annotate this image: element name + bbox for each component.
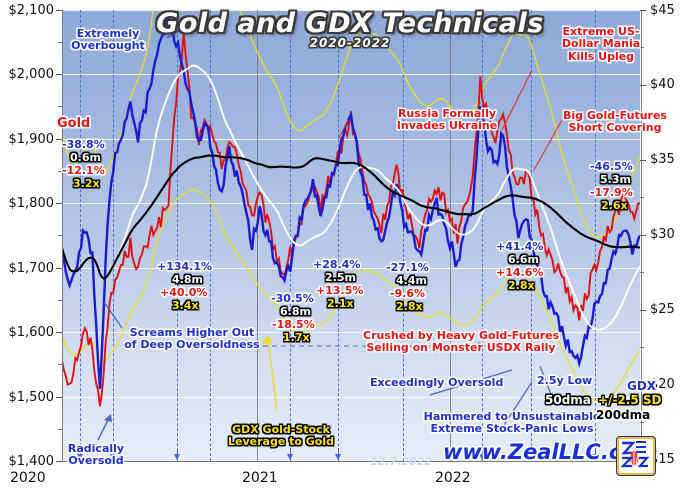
- x-axis-marker-arrow: [335, 454, 341, 460]
- legend-item-gdx: GDX: [627, 380, 656, 393]
- left-axis-minor-tick: [58, 364, 62, 365]
- stat-duration: 4.4m: [396, 275, 427, 287]
- x-axis-tick-label: 2021: [242, 470, 278, 486]
- stat-gold-pct: -12.1%: [62, 165, 105, 177]
- stat-leverage: 3.2x: [73, 178, 100, 190]
- annotation-extremely-overbought: Extremely Overbought: [60, 28, 156, 53]
- x-axis-marker-arrow: [174, 454, 180, 460]
- stat-gdx-pct: +134.1%: [157, 261, 212, 273]
- left-axis-minor-tick: [58, 235, 62, 236]
- right-axis-minor-tick: [640, 197, 644, 198]
- legend-item-50dma: 50dma: [545, 394, 591, 407]
- stat-duration: 0.6m: [70, 152, 101, 164]
- annotation-hammered-lows: Hammered to Unsustainable Extreme Stock-…: [415, 411, 609, 436]
- x-axis-tick-label: 2022: [435, 470, 471, 486]
- annotation-short-covering: Big Gold-Futures Short Covering: [553, 110, 677, 135]
- annotation-usd-mania: Extreme US- Dollar Mania Kills Upleg: [540, 26, 662, 63]
- right-axis-tick: [640, 85, 646, 86]
- stat-duration: 4.8m: [172, 274, 203, 286]
- left-axis-tick: [56, 332, 62, 333]
- annotation-russia-invades: Russia Formally Invades Ukraine: [372, 108, 522, 133]
- stat-gold-pct: +14.6%: [496, 267, 543, 279]
- annotation-gdx-leverage: GDX Gold-Stock Leverage to Gold: [211, 424, 351, 449]
- left-axis-minor-tick: [58, 106, 62, 107]
- right-axis-tick-label: $20: [650, 377, 700, 392]
- left-axis-tick-label: $2,000: [0, 67, 54, 82]
- stat-gdx-pct: -27.1%: [386, 262, 429, 274]
- left-axis-tick-label: $1,900: [0, 132, 54, 147]
- stat-duration: 5.3m: [600, 174, 631, 186]
- stat-gdx-pct: -46.5%: [590, 161, 633, 173]
- right-axis-tick-label: $40: [650, 77, 700, 92]
- left-axis-tick-label: $1,800: [0, 196, 54, 211]
- annotation-radically-oversold: Radically Oversold: [62, 443, 130, 468]
- right-axis-tick-label: $30: [650, 227, 700, 242]
- left-axis-tick-label: $1,700: [0, 261, 54, 276]
- date-stamp: 12.7.2022: [370, 455, 432, 468]
- right-axis-tick: [640, 310, 646, 311]
- stat-leverage: 2.8x: [396, 301, 423, 313]
- stat-leverage: 3.4x: [172, 300, 199, 312]
- stat-duration: 2.5m: [325, 272, 356, 284]
- x-axis-tick-label: 2020: [10, 470, 46, 486]
- right-axis-tick: [640, 235, 646, 236]
- left-axis-tick: [56, 74, 62, 75]
- left-axis-tick: [56, 268, 62, 269]
- annotation-screams-higher: Screams Higher Out of Deep Oversoldness: [108, 327, 276, 352]
- zeal-logo-glyph: [619, 439, 649, 469]
- left-axis-tick-label: $1,600: [0, 325, 54, 340]
- left-axis-minor-tick: [58, 429, 62, 430]
- stat-gold-pct: +13.5%: [316, 285, 363, 297]
- annotation-25y-low: 2.5y Low: [537, 375, 592, 387]
- stat-leverage: 2.6x: [601, 200, 628, 212]
- left-axis-tick: [56, 203, 62, 204]
- left-axis-tick-label: $1,400: [0, 454, 54, 469]
- zeal-logo-icon: [617, 437, 655, 475]
- stat-gdx-pct: +41.4%: [496, 241, 543, 253]
- annotation-crushed-usdx: Crushed by Heavy Gold-Futures Selling on…: [363, 330, 559, 355]
- stat-gdx-pct: +28.4%: [313, 259, 360, 271]
- left-axis-minor-tick: [58, 300, 62, 301]
- stat-duration: 6.8m: [280, 306, 311, 318]
- right-axis-tick-label: $25: [650, 302, 700, 317]
- stat-leverage: 2.1x: [327, 298, 354, 310]
- annotation-exceedingly-oversold: Exceedingly Oversold: [370, 377, 503, 389]
- left-axis-tick-label: $1,500: [0, 390, 54, 405]
- stat-gdx-pct: -38.8%: [62, 139, 105, 151]
- right-axis-minor-tick: [640, 272, 644, 273]
- series-label-gold: Gold: [57, 117, 90, 132]
- stat-duration: 6.6m: [508, 254, 539, 266]
- x-axis-marker-arrow: [287, 454, 293, 460]
- stat-gold-pct: +40.0%: [160, 287, 207, 299]
- stat-gdx-pct: -30.5%: [271, 293, 314, 305]
- stat-leverage: 1.7x: [283, 332, 310, 344]
- right-axis-tick-label: $35: [650, 152, 700, 167]
- legend-item-sd: +/-2.5 SD: [598, 394, 661, 407]
- stat-gold-pct: -18.5%: [272, 319, 315, 331]
- left-axis-tick: [56, 397, 62, 398]
- stat-gold-pct: -9.6%: [390, 288, 425, 300]
- legend-item-200dma: 200dma: [596, 409, 650, 422]
- stat-gold-pct: -17.9%: [590, 187, 633, 199]
- stat-leverage: 2.8x: [508, 280, 535, 292]
- chart-canvas: $2,100 $2,000 $1,900 $1,800 $1,700 $1,60…: [0, 0, 700, 500]
- right-axis-tick: [640, 160, 646, 161]
- right-axis-minor-tick: [640, 347, 644, 348]
